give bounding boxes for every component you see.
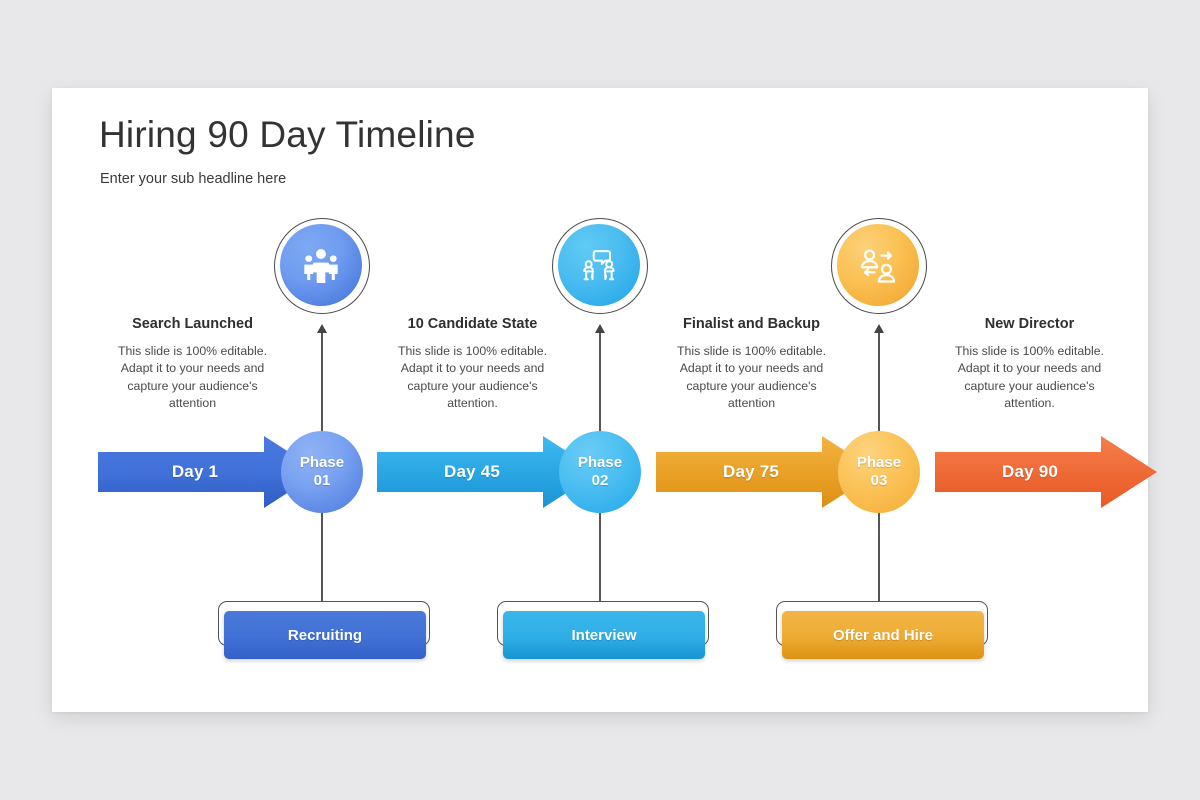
phase-node-02[interactable]: Phase 02 (559, 431, 641, 513)
description-block-2: 10 Candidate State This slide is 100% ed… (385, 316, 560, 413)
phase-label-line1-02: Phase (578, 454, 622, 472)
page-title: Hiring 90 Day Timeline (99, 114, 476, 156)
phase-label-line2-01: 01 (314, 472, 331, 490)
timeline-arrow-day-90[interactable]: Day 90 (935, 436, 1157, 508)
description-title-1: Search Launched (105, 316, 280, 332)
connector-arrowhead-2 (595, 324, 605, 333)
people-exchange-icon (837, 224, 919, 306)
icon-node-1[interactable] (274, 218, 370, 314)
slide-card: Hiring 90 Day Timeline Enter your sub he… (52, 88, 1148, 712)
description-body-2: This slide is 100% editable. Adapt it to… (385, 343, 560, 413)
description-block-3: Finalist and Backup This slide is 100% e… (664, 316, 839, 413)
connector-line-down-1 (321, 513, 322, 601)
interview-conversation-icon (558, 224, 640, 306)
stage-label-text-1: Recruiting (288, 627, 362, 644)
description-body-3: This slide is 100% editable. Adapt it to… (664, 343, 839, 413)
stage-label-text-2: Interview (571, 627, 636, 644)
phase-label-line1-01: Phase (300, 454, 344, 472)
connector-arrowhead-1 (317, 324, 327, 333)
description-title-4: New Director (942, 316, 1117, 332)
icon-node-3[interactable] (831, 218, 927, 314)
team-group-icon (280, 224, 362, 306)
icon-node-2[interactable] (552, 218, 648, 314)
stage-label-interview[interactable]: Interview (503, 611, 705, 659)
connector-arrowhead-3 (874, 324, 884, 333)
phase-label-line2-02: 02 (592, 472, 609, 490)
phase-node-03[interactable]: Phase 03 (838, 431, 920, 513)
description-block-1: Search Launched This slide is 100% edita… (105, 316, 280, 413)
description-title-3: Finalist and Backup (664, 316, 839, 332)
stage-label-offer-and-hire[interactable]: Offer and Hire (782, 611, 984, 659)
connector-line-down-3 (878, 513, 879, 601)
description-body-4: This slide is 100% editable. Adapt it to… (942, 343, 1117, 413)
phase-node-01[interactable]: Phase 01 (281, 431, 363, 513)
description-block-4: New Director This slide is 100% editable… (942, 316, 1117, 413)
description-body-1: This slide is 100% editable. Adapt it to… (105, 343, 280, 413)
connector-line-down-2 (599, 513, 600, 601)
stage-label-text-3: Offer and Hire (833, 627, 933, 644)
stage-label-recruiting[interactable]: Recruiting (224, 611, 426, 659)
phase-label-line1-03: Phase (857, 454, 901, 472)
phase-label-line2-03: 03 (871, 472, 888, 490)
description-title-2: 10 Candidate State (385, 316, 560, 332)
page-subtitle: Enter your sub headline here (100, 171, 286, 187)
